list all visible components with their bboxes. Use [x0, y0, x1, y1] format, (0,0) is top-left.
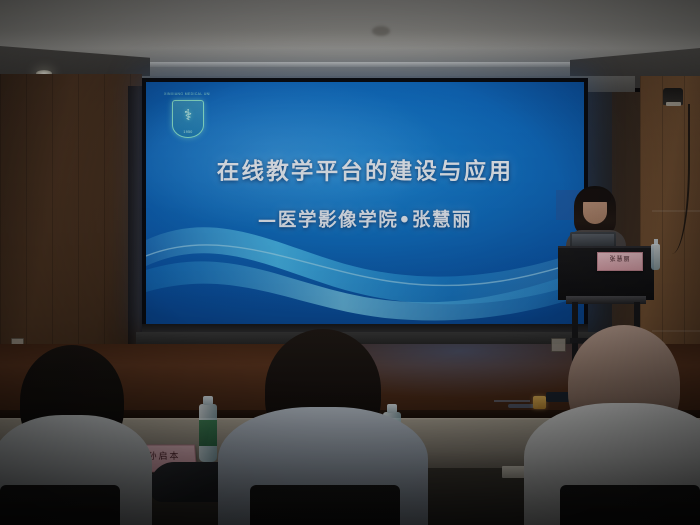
- bottle-cap: [203, 396, 213, 405]
- logo-year: 1950: [173, 130, 203, 134]
- shield-icon: ⚕ 1950: [172, 100, 204, 138]
- presenter-name-card: 张慧丽: [597, 252, 643, 271]
- logo-arc-text: XINXIANG MEDICAL UNIVERSITY: [164, 92, 210, 100]
- lecture-hall-photo: XINXIANG MEDICAL UNIVERSITY ⚕ 1950 在线教学平…: [0, 0, 700, 525]
- slide-surface: XINXIANG MEDICAL UNIVERSITY ⚕ 1950 在线教学平…: [146, 82, 584, 324]
- slide-logo: XINXIANG MEDICAL UNIVERSITY ⚕ 1950: [166, 92, 208, 140]
- presenter-fringe: [580, 189, 611, 202]
- chair-back: [560, 485, 700, 525]
- bottle-label: [199, 420, 217, 446]
- chair-back: [0, 485, 120, 525]
- water-bottle: [199, 404, 217, 462]
- ceiling-camera-icon: [663, 88, 683, 105]
- projection-screen: XINXIANG MEDICAL UNIVERSITY ⚕ 1950 在线教学平…: [142, 78, 588, 328]
- presenter-name-card-text: 张慧丽: [598, 253, 642, 268]
- caduceus-icon: ⚕: [184, 108, 192, 123]
- slide-subtitle: —医学影像学院•张慧丽: [146, 206, 584, 232]
- slide-title: 在线教学平台的建设与应用: [146, 154, 584, 186]
- ceiling-stain: [372, 26, 390, 36]
- chair-back: [250, 485, 400, 525]
- podium-water-bottle: [651, 244, 660, 270]
- left-wood-wall: [0, 74, 142, 374]
